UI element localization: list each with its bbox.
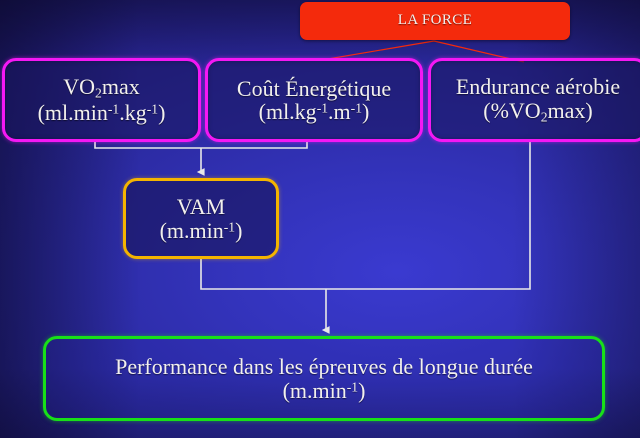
- diagram-slide: LA FORCE VO2max (ml.min-1.kg-1) Coût Éne…: [0, 0, 640, 438]
- node-vo2max-line1: VO2max: [63, 75, 139, 101]
- node-performance[interactable]: Performance dans les épreuves de longue …: [43, 336, 605, 421]
- edge-vo2max-cout-to-vam: [95, 142, 307, 172]
- node-vam[interactable]: VAM (m.min-1): [123, 178, 279, 259]
- node-la-force-label: LA FORCE: [398, 13, 472, 29]
- node-cout-line2: (ml.kg-1.m-1): [259, 100, 370, 123]
- node-performance-line1: Performance dans les épreuves de longue …: [115, 355, 533, 378]
- node-performance-line2: (m.min-1): [283, 379, 366, 402]
- node-endurance-line2: (%VO2max): [483, 99, 592, 125]
- node-vo2max-line2: (ml.min-1.kg-1): [38, 101, 166, 124]
- node-cout-line1: Coût Énergétique: [237, 77, 391, 100]
- node-vo2max[interactable]: VO2max (ml.min-1.kg-1): [2, 58, 201, 142]
- node-la-force[interactable]: LA FORCE: [300, 2, 570, 40]
- node-vam-line1: VAM: [177, 195, 226, 218]
- node-endurance-line1: Endurance aérobie: [456, 75, 620, 98]
- node-cout-energetique[interactable]: Coût Énergétique (ml.kg-1.m-1): [205, 58, 423, 142]
- node-endurance-aerobie[interactable]: Endurance aérobie (%VO2max): [428, 58, 640, 142]
- node-vam-line2: (m.min-1): [160, 219, 243, 242]
